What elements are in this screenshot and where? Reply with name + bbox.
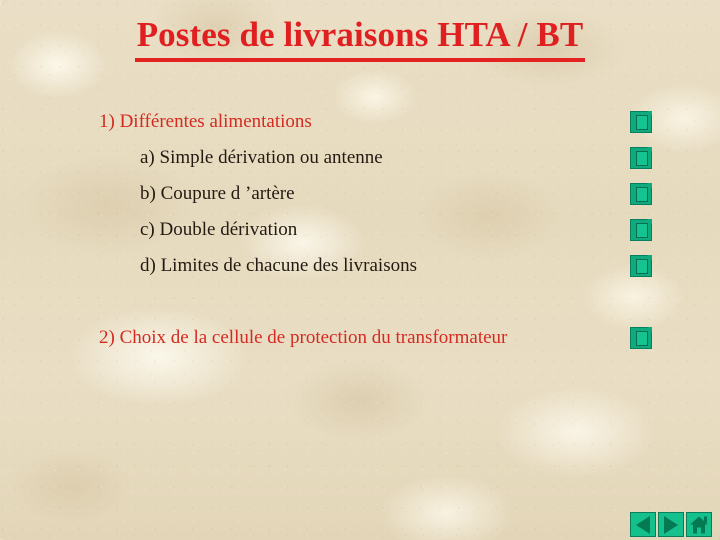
document-page-shape <box>636 331 648 346</box>
previous-triangle-icon <box>636 516 650 534</box>
document-fold-corner <box>647 183 652 188</box>
previous-slide-button[interactable] <box>630 512 656 537</box>
page-title: Postes de livraisons HTA / BT <box>135 16 586 62</box>
outline-item-label: 1) Différentes alimentations <box>99 108 312 136</box>
outline-row-b: b) Coupure d ’artère <box>0 180 720 216</box>
document-fold-corner <box>647 111 652 116</box>
outline-row-1: 1) Différentes alimentations <box>0 108 720 144</box>
title-block: Postes de livraisons HTA / BT <box>0 16 720 62</box>
document-fold-corner <box>647 255 652 260</box>
outline-row-d: d) Limites de chacune des livraisons <box>0 252 720 288</box>
document-icon[interactable] <box>630 183 652 205</box>
outline-item-label: a) Simple dérivation ou antenne <box>140 144 383 172</box>
slide-canvas: Postes de livraisons HTA / BT 1) Différe… <box>0 0 720 540</box>
outline-row-c: c) Double dérivation <box>0 216 720 252</box>
outline-row-2: 2) Choix de la cellule de protection du … <box>0 324 720 360</box>
document-icon[interactable] <box>630 219 652 241</box>
document-page-shape <box>636 259 648 274</box>
outline-spacer <box>0 288 720 324</box>
document-page-shape <box>636 115 648 130</box>
home-icon-door <box>697 527 701 533</box>
document-icon[interactable] <box>630 327 652 349</box>
document-icon[interactable] <box>630 147 652 169</box>
next-triangle-icon <box>664 516 678 534</box>
document-fold-corner <box>647 219 652 224</box>
outline-item-label: d) Limites de chacune des livraisons <box>140 252 417 280</box>
document-fold-corner <box>647 147 652 152</box>
next-slide-button[interactable] <box>658 512 684 537</box>
home-button[interactable] <box>686 512 712 537</box>
outline-item-label: 2) Choix de la cellule de protection du … <box>99 324 507 352</box>
outline-item-label: b) Coupure d ’artère <box>140 180 295 208</box>
document-page-shape <box>636 223 648 238</box>
navigation-bar <box>630 512 712 537</box>
outline-list: 1) Différentes alimentations a) Simple d… <box>0 108 720 360</box>
document-icon[interactable] <box>630 111 652 133</box>
home-icon <box>690 516 708 533</box>
document-icon[interactable] <box>630 255 652 277</box>
outline-row-a: a) Simple dérivation ou antenne <box>0 144 720 180</box>
document-fold-corner <box>647 327 652 332</box>
document-page-shape <box>636 187 648 202</box>
document-page-shape <box>636 151 648 166</box>
outline-item-label: c) Double dérivation <box>140 216 297 244</box>
